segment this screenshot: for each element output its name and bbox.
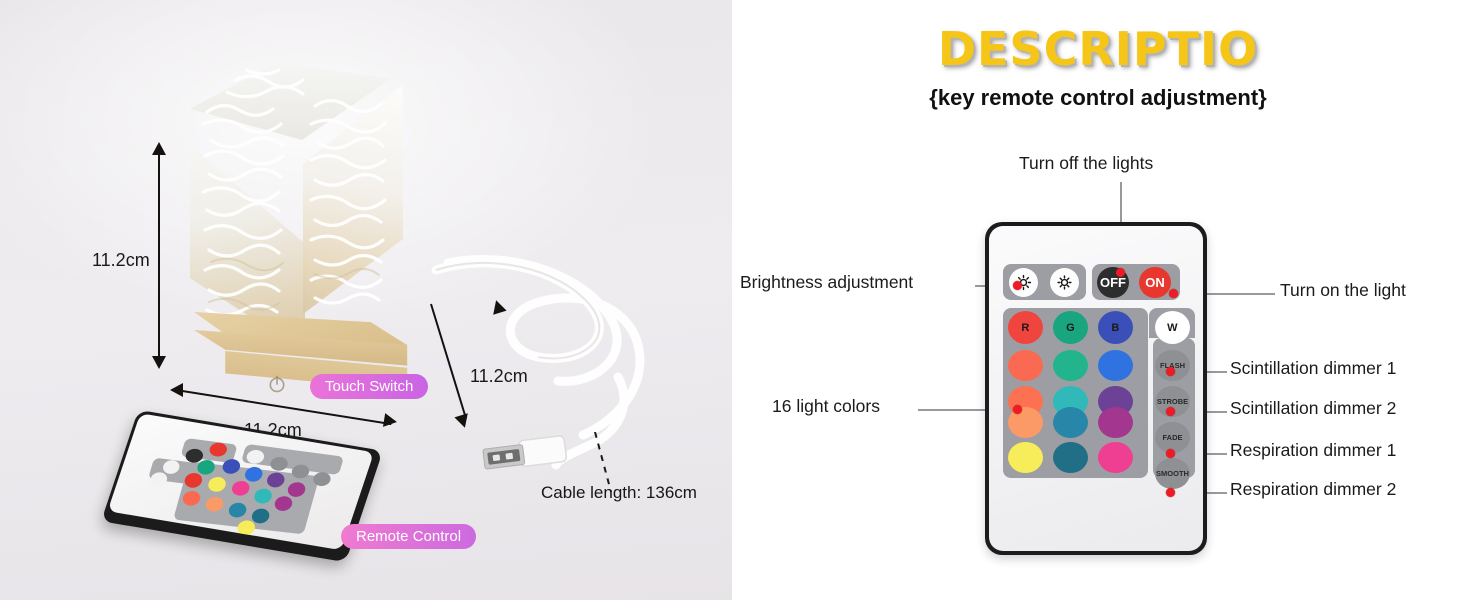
callout-label-brightness: Brightness adjustment <box>740 272 913 293</box>
dimension-label-height: 11.2cm <box>92 250 150 271</box>
callout-label-turn-on: Turn on the light <box>1280 280 1406 301</box>
marker-dot-flash <box>1166 367 1175 376</box>
callout-label-scintillation-2: Scintillation dimmer 2 <box>1230 398 1396 419</box>
color-button-white[interactable]: W <box>1155 311 1190 344</box>
power-icon[interactable] <box>267 374 287 394</box>
dimension-arrow-right <box>383 413 398 429</box>
color-button-red[interactable]: R <box>1008 311 1043 344</box>
page-subtitle: {key remote control adjustment} <box>732 85 1464 111</box>
marker-dot-smooth <box>1166 488 1175 497</box>
marker-dot-strobe <box>1166 407 1175 416</box>
marker-dot-fade <box>1166 449 1175 458</box>
color-button-blue[interactable]: B <box>1098 311 1133 344</box>
callout-label-scintillation-1: Scintillation dimmer 1 <box>1230 358 1396 379</box>
smooth-button[interactable]: SMOOTH <box>1155 458 1190 489</box>
description-diagram-panel: DESCRIPTIO {key remote control adjustmen… <box>732 0 1464 600</box>
power-off-label: OFF <box>1100 275 1126 290</box>
cable-length-label: Cable length: 136cm <box>541 483 697 503</box>
callout-label-respiration-2: Respiration dimmer 2 <box>1230 479 1396 500</box>
badge-touch-switch: Touch Switch <box>310 374 428 399</box>
color-button-grid[interactable] <box>1098 442 1133 473</box>
remote-control-diagram: OFF ON R G B W <box>985 222 1207 555</box>
usb-cable <box>418 245 718 515</box>
dimension-arrow-down <box>152 356 166 369</box>
fade-button[interactable]: FADE <box>1155 422 1190 453</box>
power-on-button[interactable]: ON <box>1139 267 1171 298</box>
color-button-grid[interactable] <box>1053 442 1088 473</box>
brightness-down-button[interactable] <box>1050 268 1079 297</box>
dimension-line-height <box>158 148 160 366</box>
sun-dim-icon <box>1056 274 1073 291</box>
badge-remote-control: Remote Control <box>341 524 476 549</box>
color-button-grid[interactable] <box>1008 350 1043 381</box>
color-label-w: W <box>1167 322 1178 334</box>
color-label-b: B <box>1111 322 1119 334</box>
product-photo-panel: 11.2cm 11.2cm 11.2cm <box>0 0 732 600</box>
color-button-green[interactable]: G <box>1053 311 1088 344</box>
color-button-grid[interactable] <box>1098 350 1133 381</box>
callout-label-respiration-1: Respiration dimmer 1 <box>1230 440 1396 461</box>
color-label-r: R <box>1021 322 1029 334</box>
marker-dot-16-colors <box>1013 405 1022 414</box>
screenshot-root: 11.2cm 11.2cm 11.2cm <box>0 0 1464 600</box>
page-title: DESCRIPTIO <box>732 22 1464 76</box>
color-button-grid[interactable] <box>1008 442 1043 473</box>
callout-label-turn-off: Turn off the lights <box>1019 153 1153 174</box>
smooth-label: SMOOTH <box>1156 469 1189 478</box>
power-on-label: ON <box>1145 275 1165 290</box>
marker-dot-turn-on <box>1169 289 1178 298</box>
strobe-label: STROBE <box>1157 397 1188 406</box>
fade-label: FADE <box>1162 433 1182 442</box>
color-label-g: G <box>1066 322 1075 334</box>
marker-dot-brightness <box>1013 281 1022 290</box>
color-button-grid[interactable] <box>1053 407 1088 438</box>
marker-dot-turn-off <box>1116 268 1125 277</box>
flash-button[interactable]: FLASH <box>1155 350 1190 381</box>
remote-face: OFF ON R G B W <box>989 226 1203 551</box>
color-button-grid[interactable] <box>1053 350 1088 381</box>
color-button-grid[interactable] <box>1098 407 1133 438</box>
dimension-arrow-up <box>152 142 166 155</box>
callout-label-16-colors: 16 light colors <box>772 396 880 417</box>
dimension-arrow-left <box>170 383 183 397</box>
